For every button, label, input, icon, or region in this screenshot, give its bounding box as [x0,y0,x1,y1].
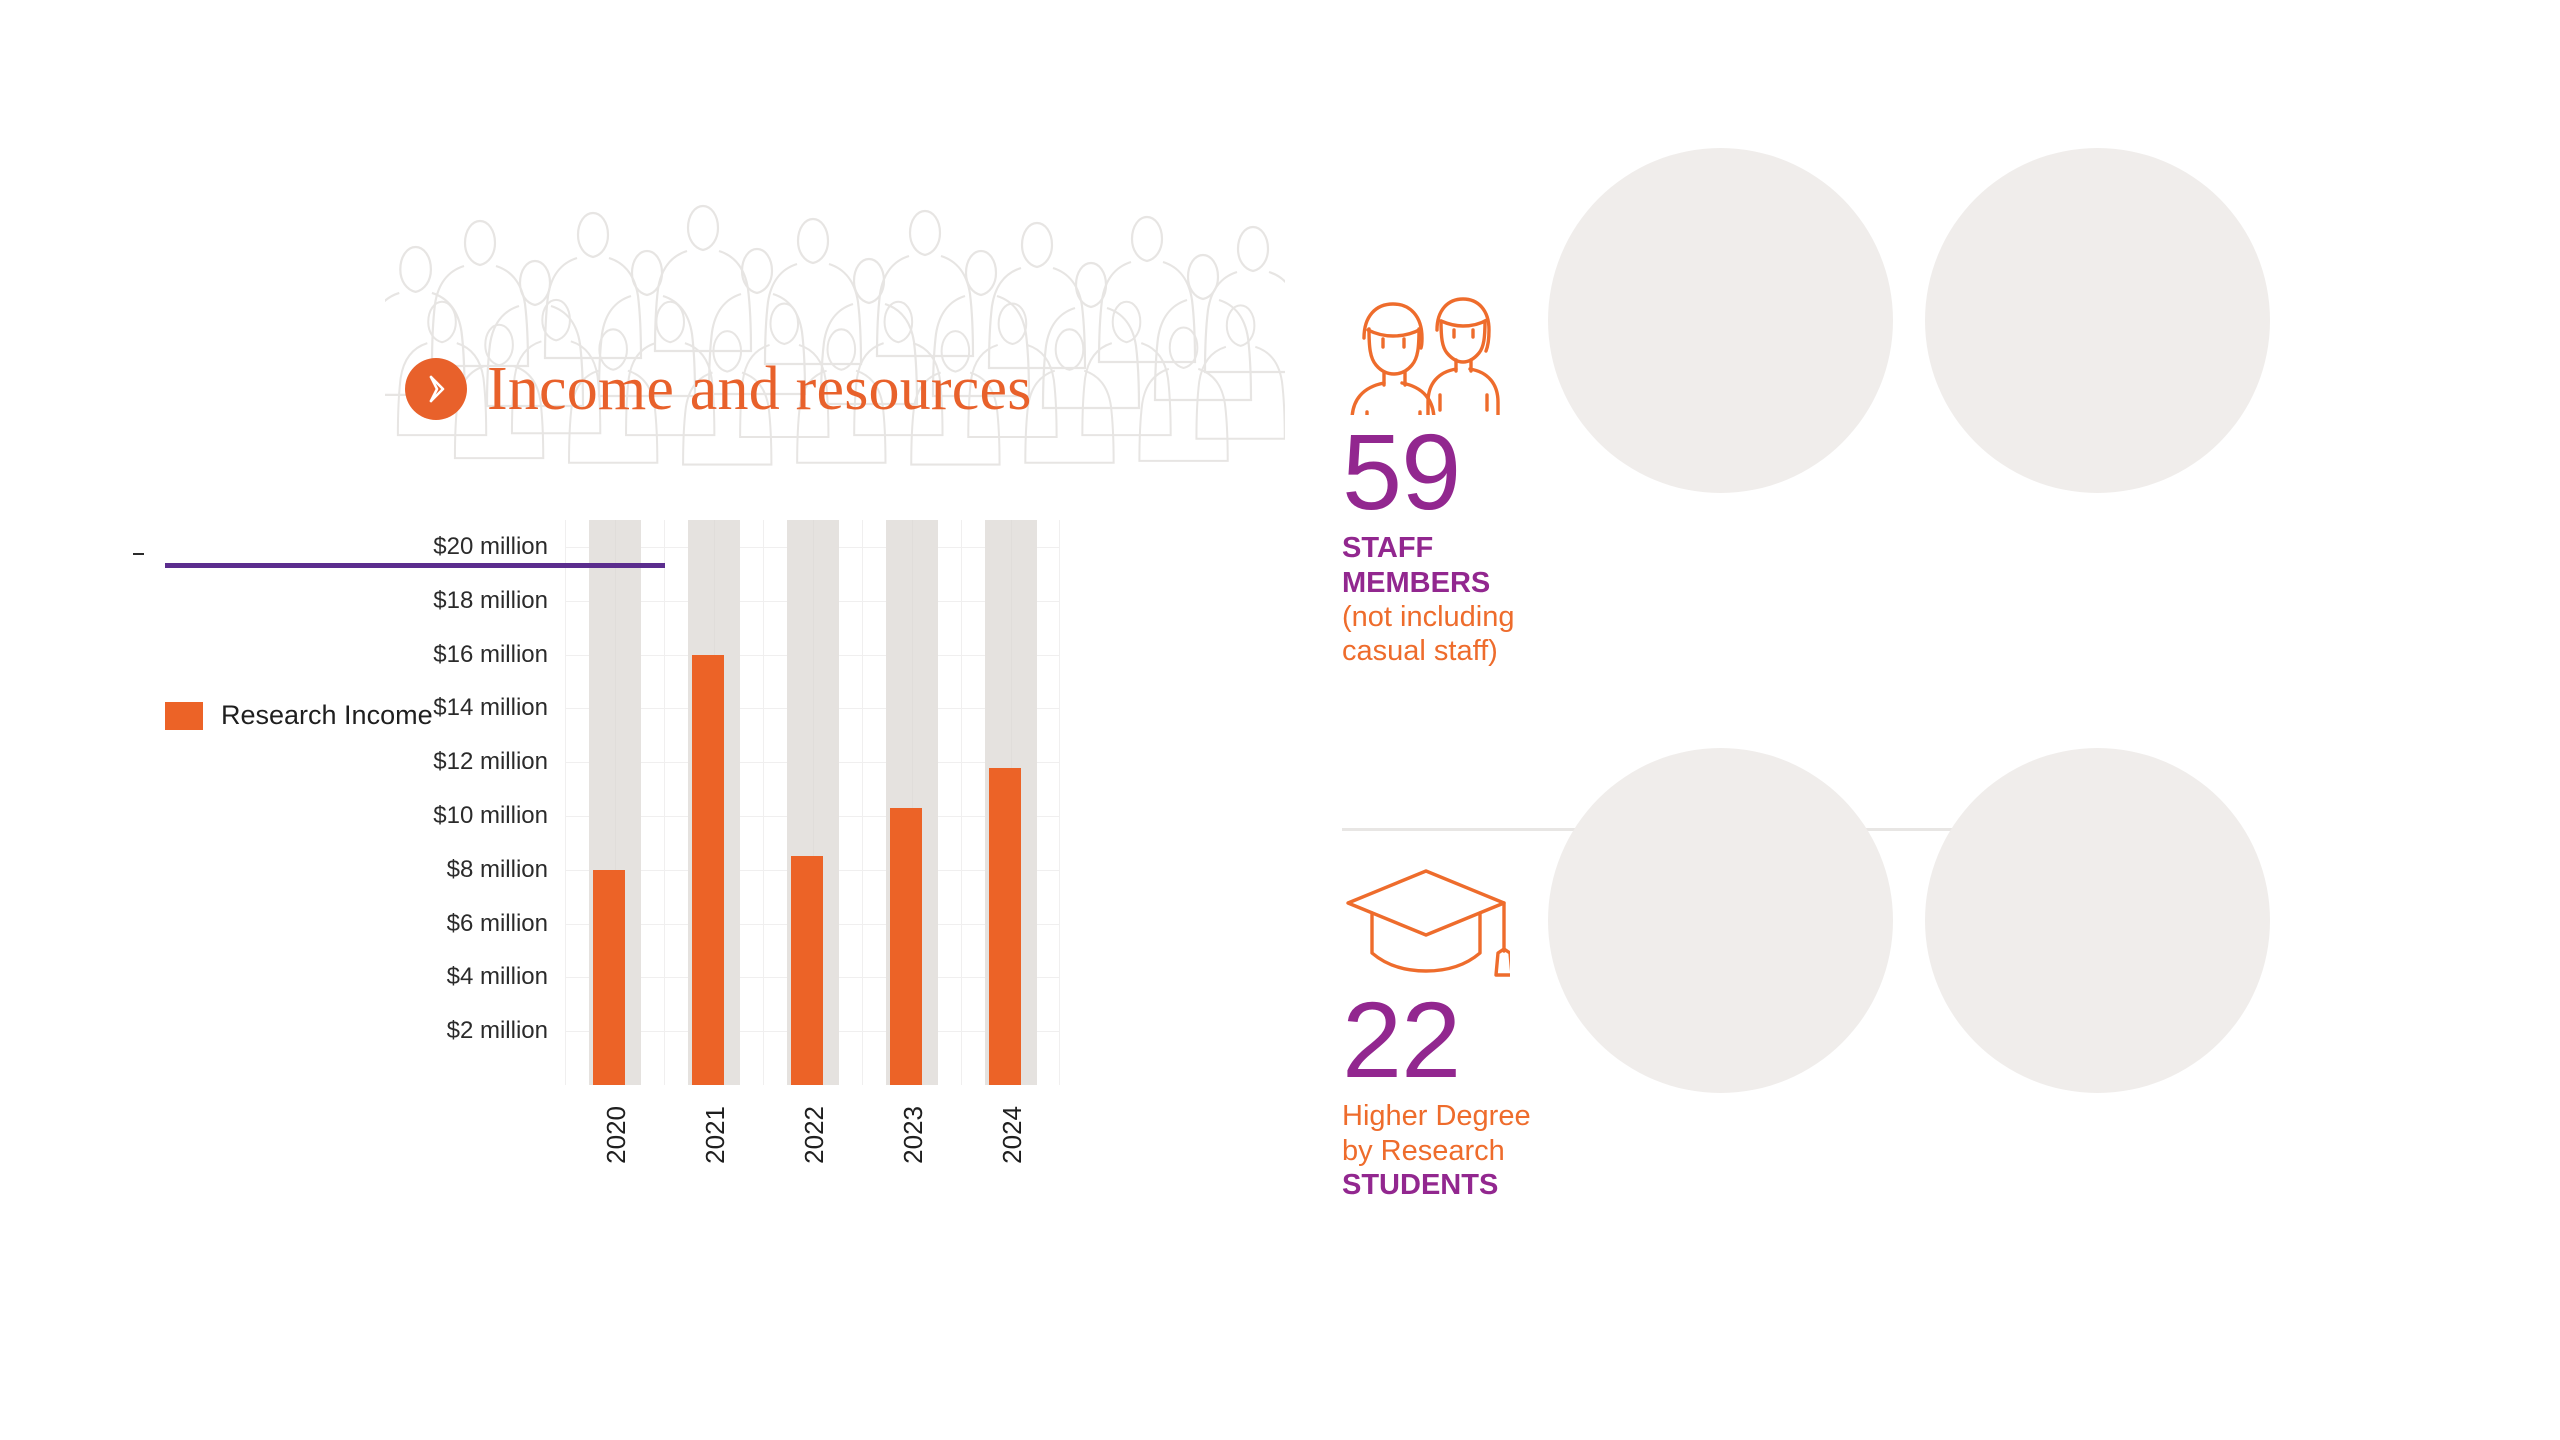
income-and-resources-panel: Income and resources $2 million$4 millio… [0,0,1300,1440]
bar-research-income-2023[interactable] [890,808,922,1085]
gridline-vertical [961,520,962,1085]
chart-legend: Research Income [165,700,433,731]
stat-caption-staff: STAFF MEMBERS (not including casual staf… [1342,531,2342,668]
x-axis-tick-label-2020: 2020 [601,1106,632,1164]
y-axis-zero-tick [133,553,144,555]
y-axis-tick-label: $12 million [433,748,548,776]
bar-research-income-2024[interactable] [989,768,1021,1085]
gridline-vertical [763,520,764,1085]
gridline-vertical [862,520,863,1085]
y-axis-tick-label: $8 million [447,856,548,884]
stat-line: Higher Degree [1342,1099,2342,1133]
stat-line: by Research [1342,1134,2342,1168]
stat-line: casual staff) [1342,634,2342,668]
image-placeholder-circle [1925,148,2270,493]
y-axis-tick-label: $14 million [433,694,548,722]
chevron-right-icon [405,358,467,420]
y-axis-tick-label: $2 million [447,1017,548,1045]
y-axis-tick-label: $4 million [447,963,548,991]
crowd-line-art-background [385,195,1285,495]
x-axis-tick-label-2024: 2024 [997,1106,1028,1164]
gridline-vertical [664,520,665,1085]
bar-research-income-2020[interactable] [593,870,625,1085]
key-statistics-panel: 59 STAFF MEMBERS (not including casual s… [1300,0,2560,1440]
legend-label-research-income: Research Income [221,700,433,731]
legend-swatch-research-income [165,702,203,730]
stat-line: STUDENTS [1342,1168,2342,1202]
bar-research-income-2021[interactable] [692,655,724,1085]
image-placeholder-circle [1925,748,2270,1093]
gridline-vertical [565,520,566,1085]
stat-line: MEMBERS [1342,566,2342,600]
stat-line: (not including [1342,600,2342,634]
y-axis-tick-label: $20 million [433,533,548,561]
gridline-vertical [1059,520,1060,1085]
research-income-bar-chart: $2 million$4 million$6 million$8 million… [400,520,1120,1100]
x-axis-tick-label-2022: 2022 [799,1106,830,1164]
x-axis-tick-label-2023: 2023 [898,1106,929,1164]
x-axis-tick-label-2021: 2021 [700,1106,731,1164]
image-placeholder-circle [1548,148,1893,493]
image-placeholder-circle [1548,748,1893,1093]
y-axis-tick-label: $18 million [433,587,548,615]
x-axis-line [165,563,665,568]
page-title: Income and resources [487,358,1032,420]
bar-research-income-2022[interactable] [791,856,823,1085]
stat-caption-students: Higher Degree by Research STUDENTS [1342,1099,2342,1202]
y-axis-tick-labels: $2 million$4 million$6 million$8 million… [400,520,548,1095]
chart-plot-area [565,520,1060,1085]
section-header: Income and resources [405,358,1032,420]
y-axis-tick-label: $16 million [433,641,548,669]
y-axis-tick-label: $6 million [447,910,548,938]
y-axis-tick-label: $10 million [433,802,548,830]
stat-line: STAFF [1342,531,2342,565]
